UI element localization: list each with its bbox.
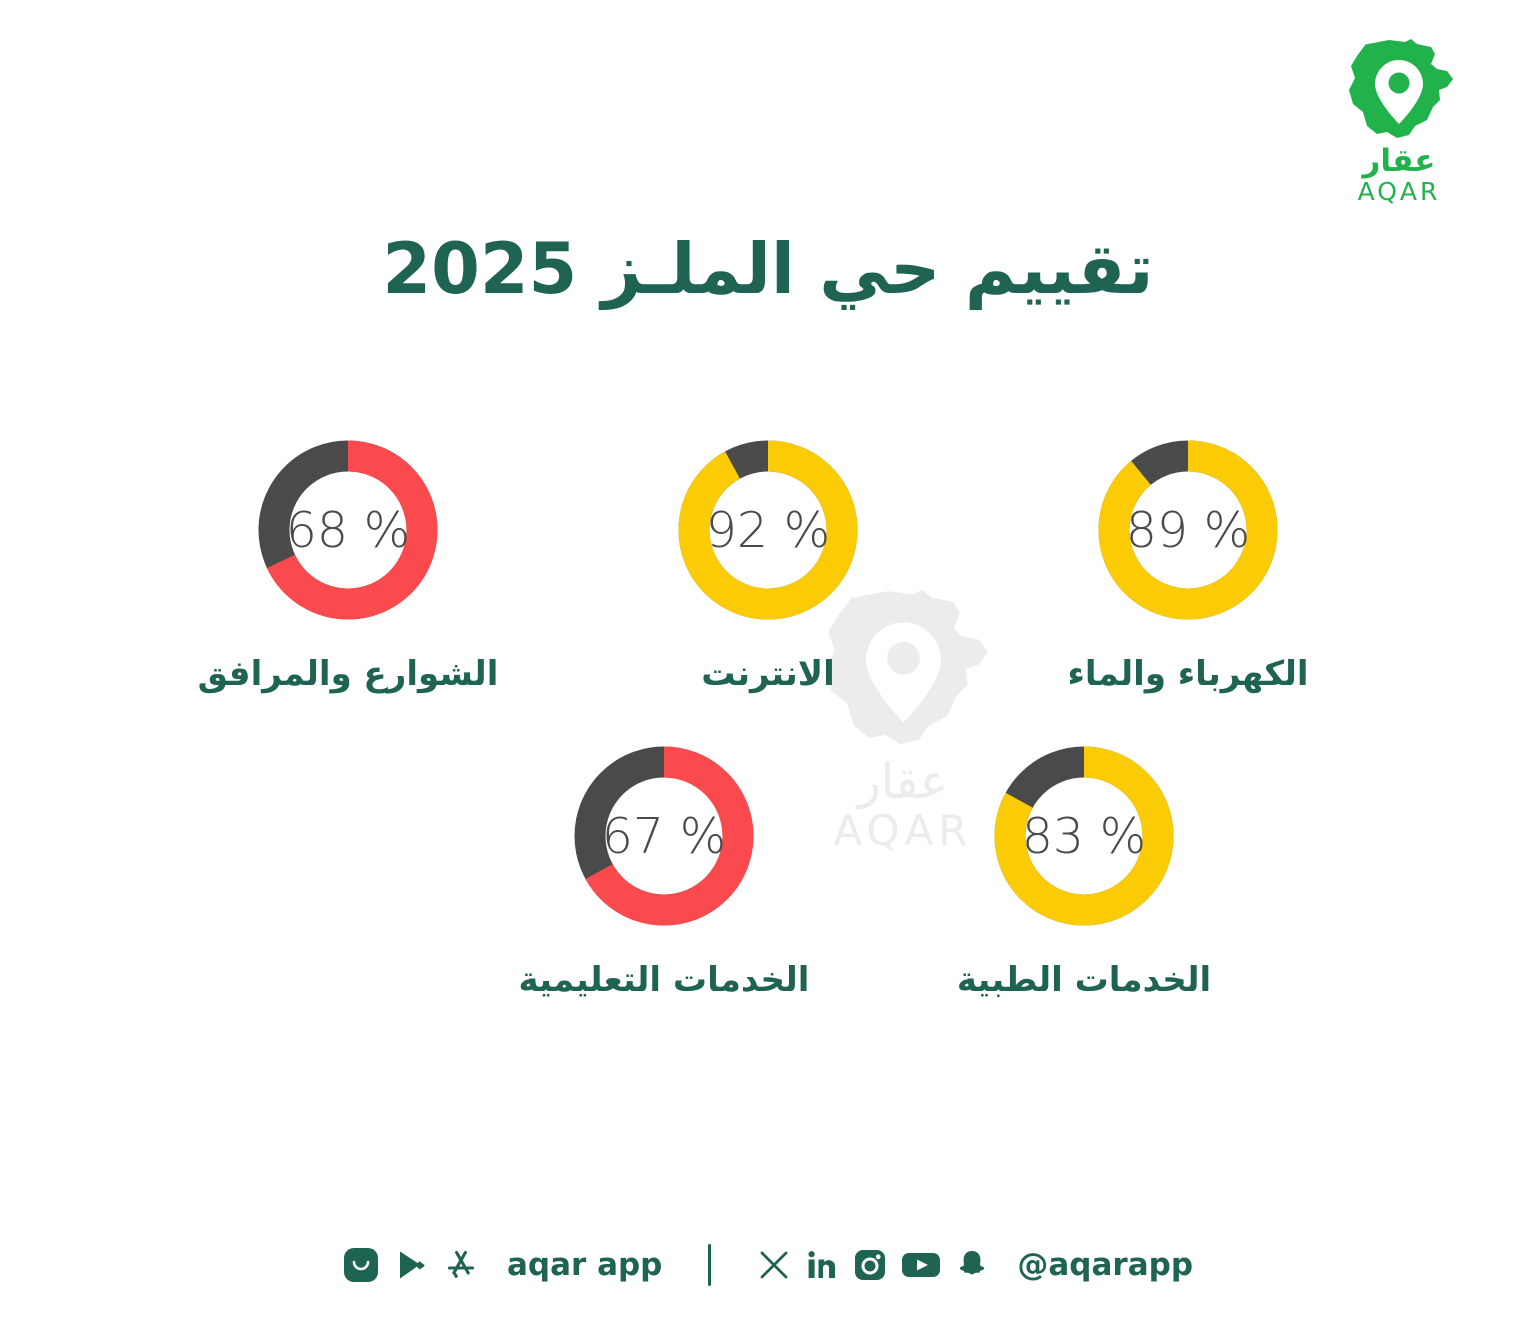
google-play-icon[interactable] (393, 1247, 429, 1283)
donut-value-label: 92 % (668, 430, 868, 630)
donut-chart: 68 % (248, 430, 448, 630)
metrics-row-2: 67 % الخدمات التعليمية 83 % الخدمات الطب… (212, 736, 1536, 1000)
donut-chart: 89 % (1088, 430, 1288, 630)
linkedin-icon[interactable] (805, 1248, 839, 1282)
donut-chart: 83 % (984, 736, 1184, 936)
page-title: تقييم حي الملـز 2025 (0, 228, 1536, 310)
saudi-map-pin-logo-icon (1343, 38, 1455, 142)
metric-label: الشوارع والمرافق (198, 654, 499, 694)
metrics-grid: 68 % الشوارع والمرافق 92 % الانترنت 89 % (0, 430, 1536, 1000)
footer: aqar app (0, 1244, 1536, 1286)
footer-divider (708, 1244, 711, 1286)
brand-logo: عقار AQAR (1324, 38, 1474, 203)
brand-name-en: AQAR (1358, 179, 1441, 204)
x-twitter-icon[interactable] (757, 1248, 791, 1282)
metric-internet: 92 % الانترنت (558, 430, 978, 694)
donut-value-label: 68 % (248, 430, 448, 630)
footer-app-stores: aqar app (343, 1247, 662, 1283)
donut-value-label: 83 % (984, 736, 1184, 936)
huawei-appgallery-icon[interactable] (343, 1247, 379, 1283)
app-store-icon[interactable] (443, 1247, 479, 1283)
brand-name-ar: عقار (1363, 146, 1436, 177)
donut-value-label: 67 % (564, 736, 764, 936)
metric-label: الانترنت (701, 654, 835, 694)
donut-value-label: 89 % (1088, 430, 1288, 630)
metrics-row-1: 68 % الشوارع والمرافق 92 % الانترنت 89 % (0, 430, 1536, 694)
metric-streets-facilities: 68 % الشوارع والمرافق (138, 430, 558, 694)
footer-socials: @aqarapp (757, 1247, 1193, 1283)
metric-label: الكهرباء والماء (1067, 654, 1308, 694)
metric-educational-services: 67 % الخدمات التعليمية (454, 736, 874, 1000)
donut-chart: 67 % (564, 736, 764, 936)
metric-medical-services: 83 % الخدمات الطبية (874, 736, 1294, 1000)
metric-label: الخدمات التعليمية (519, 960, 810, 1000)
youtube-icon[interactable] (901, 1248, 941, 1282)
donut-chart: 92 % (668, 430, 868, 630)
metric-electricity-water: 89 % الكهرباء والماء (978, 430, 1398, 694)
app-handle: aqar app (507, 1247, 662, 1283)
instagram-icon[interactable] (853, 1248, 887, 1282)
social-handle: @aqarapp (1017, 1247, 1193, 1283)
metric-label: الخدمات الطبية (957, 960, 1211, 1000)
snapchat-icon[interactable] (955, 1248, 989, 1282)
